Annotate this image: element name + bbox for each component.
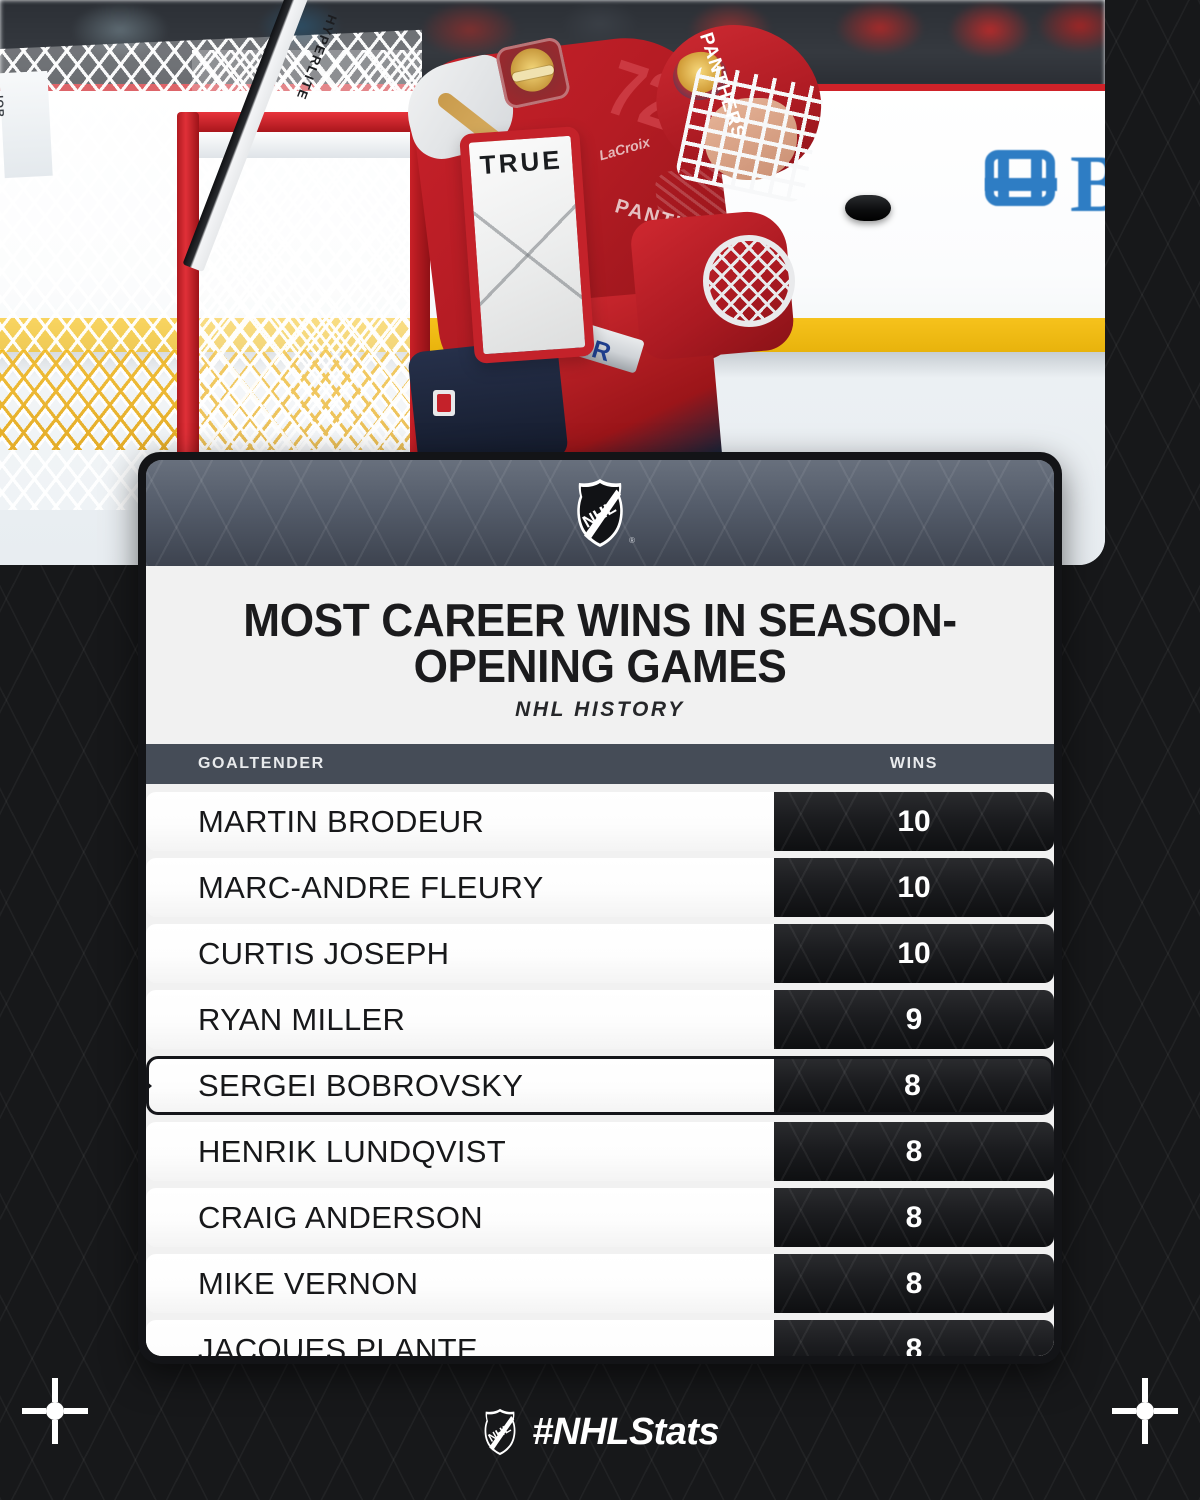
goaltender-name: RYAN MILLER [146,990,774,1049]
card-header-band: NHL ® [146,460,1054,566]
faceoff-marker-icon [22,1378,88,1444]
faceoff-tick-left [1112,1408,1136,1414]
graphic-canvas: B IOR HYPERLITE 72 LaCroix [0,0,1200,1500]
table-row: MIKE VERNON8 [146,1254,1054,1313]
blocker-scuff-marks [472,176,584,333]
table-row: JACQUES PLANTE8 [146,1320,1054,1356]
stats-card-inner: NHL ® MOST CAREER WINS IN SEASON-OPENING… [146,460,1054,1356]
glove-webbing [703,235,795,327]
nhl-shield-icon: NHL [481,1408,519,1456]
column-header-wins: WINS [774,744,1054,784]
net-tag: IOR [0,71,53,178]
goaltender-name: CRAIG ANDERSON [146,1188,774,1247]
wins-value: 8 [774,1188,1054,1247]
faceoff-tick-top [1142,1378,1148,1402]
table-row: RYAN MILLER9 [146,990,1054,1049]
goaltender-name: JACQUES PLANTE [146,1320,774,1356]
footer: NHL #NHLStats [0,1364,1200,1500]
table-row: CURTIS JOSEPH10 [146,924,1054,983]
goaltender-name: MARTIN BRODEUR [146,792,774,851]
wins-value: 10 [774,792,1054,851]
faceoff-tick-left [22,1408,46,1414]
faceoff-dot [1136,1402,1154,1420]
goalie-leg-patch [433,390,455,416]
wins-value: 8 [774,1056,1054,1115]
wins-value: 9 [774,990,1054,1049]
wins-value: 10 [774,858,1054,917]
faceoff-tick-right [1154,1408,1178,1414]
table-row: MARC-ANDRE FLEURY10 [146,858,1054,917]
highlight-pointer-icon [146,1075,152,1097]
wins-value: 8 [774,1320,1054,1356]
table-row: HENRIK LUNDQVIST8 [146,1122,1054,1181]
wins-value: 8 [774,1122,1054,1181]
board-ad-letter: B [1070,146,1105,221]
goaltender-name: MARC-ANDRE FLEURY [146,858,774,917]
faceoff-marker-icon [1112,1378,1178,1444]
nhlstats-hashtag: #NHLStats [532,1411,719,1454]
faceoff-tick-bottom [52,1420,58,1444]
net-tag-label: IOR [0,95,7,140]
page-title: MOST CAREER WINS IN SEASON-OPENING GAMES [193,598,1007,689]
registered-mark-icon: ® [629,536,635,545]
title-block: MOST CAREER WINS IN SEASON-OPENING GAMES… [146,566,1054,744]
nhl-shield-icon: NHL ® [572,478,628,548]
faceoff-dot [46,1402,64,1420]
table-header-row: GOALTENDER WINS [146,744,1054,784]
table-row: SERGEI BOBROVSKY8 [146,1056,1054,1115]
goaltender-name: SERGEI BOBROVSKY [146,1056,774,1115]
faceoff-tick-top [52,1378,58,1402]
table-row: MARTIN BRODEUR10 [146,792,1054,851]
goal-net: IOR [0,20,422,510]
table-row: CRAIG ANDERSON8 [146,1188,1054,1247]
page-subtitle: NHL HISTORY [176,698,1024,722]
goaltender-name: HENRIK LUNDQVIST [146,1122,774,1181]
stats-table: GOALTENDER WINS MARTIN BRODEUR10MARC-AND… [146,744,1054,1356]
wins-value: 8 [774,1254,1054,1313]
table-body: MARTIN BRODEUR10MARC-ANDRE FLEURY10CURTI… [146,792,1054,1356]
goalie-figure: 72 LaCroix PANTHERS PANTHERS BAUER TRUE [385,0,855,460]
faceoff-tick-right [64,1408,88,1414]
footer-logo-group: NHL #NHLStats [481,1408,719,1456]
wins-value: 10 [774,924,1054,983]
faceoff-tick-bottom [1142,1420,1148,1444]
hockey-puck [845,195,891,221]
goaltender-name: MIKE VERNON [146,1254,774,1313]
column-header-goaltender: GOALTENDER [146,744,774,784]
stats-card: NHL ® MOST CAREER WINS IN SEASON-OPENING… [138,452,1062,1364]
goalie-blocker-pad: TRUE [459,126,595,364]
honda-logo-bar [985,178,1057,191]
goaltender-name: CURTIS JOSEPH [146,924,774,983]
